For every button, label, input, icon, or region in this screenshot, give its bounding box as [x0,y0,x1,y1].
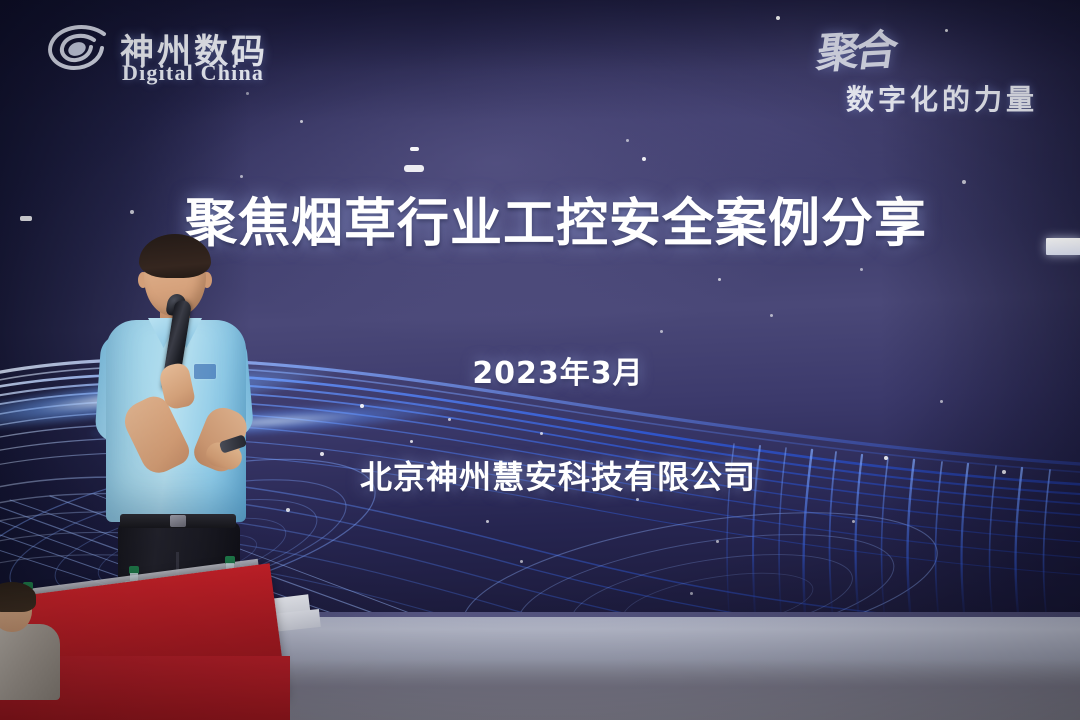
event-slogan-subtitle: 数字化的力量 [846,78,1038,118]
stage-light-strip [1046,238,1080,255]
digital-china-swirl-icon [44,20,116,82]
attendee-body [0,624,60,700]
belt-buckle [170,515,186,527]
event-slogan-calligraphy: 聚合 [813,16,898,81]
presenter-hair [139,234,211,278]
brand-name-en: Digital China [122,60,264,86]
front-row-attendee [0,588,70,720]
conference-photo: 神州数码 Digital China 聚合 数字化的力量 聚焦烟草行业工控安全案… [0,0,1080,720]
shirt-logo-icon [194,364,216,379]
